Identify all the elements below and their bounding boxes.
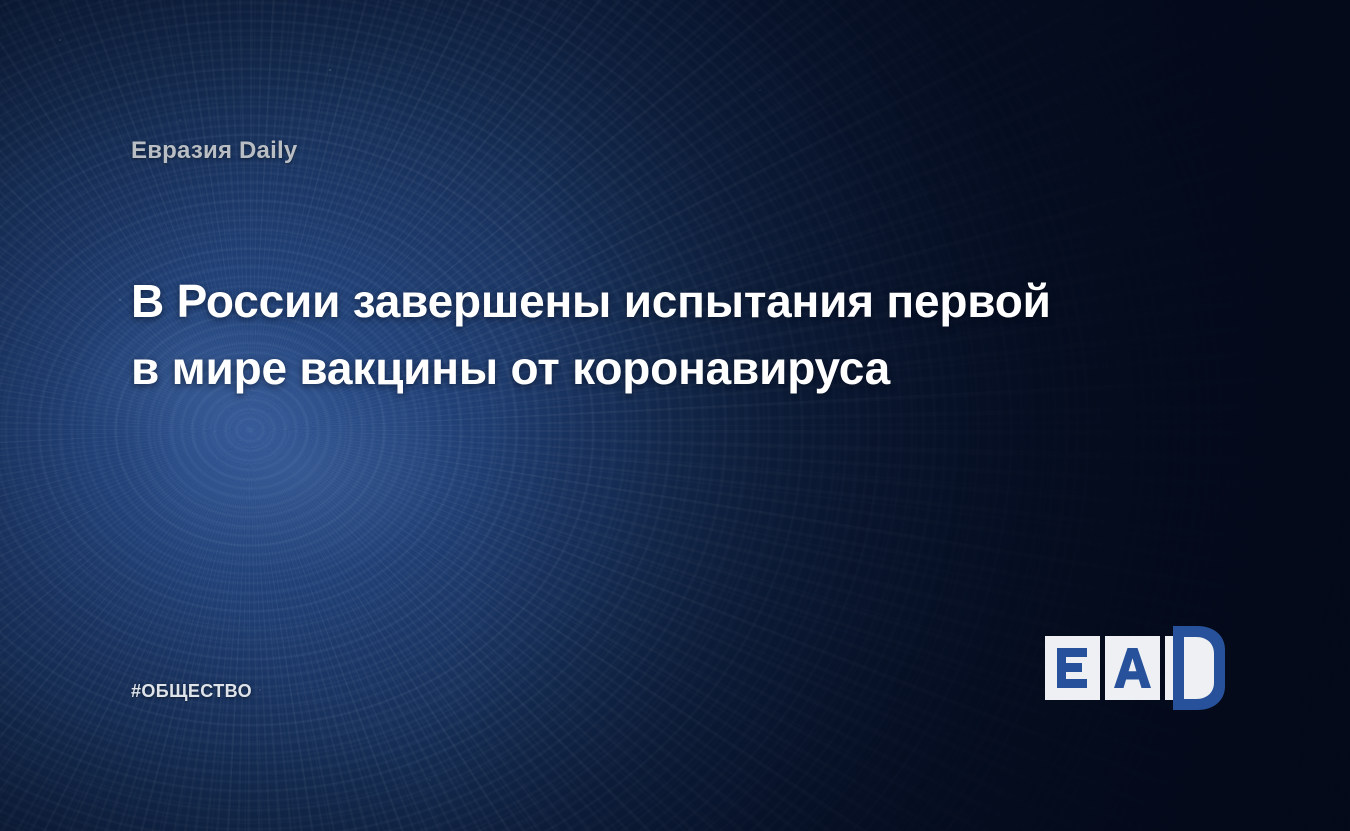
logo-tile-a xyxy=(1105,636,1160,700)
news-card: Евразия Daily В России завершены испытан… xyxy=(0,0,1350,831)
logo-tile-e xyxy=(1045,636,1100,700)
letter-a-icon xyxy=(1105,636,1160,700)
page-title: В России завершены испытания первой в ми… xyxy=(131,268,1236,402)
headline-line-2: в мире вакцины от коронавируса xyxy=(131,335,1236,402)
headline-line-1: В России завершены испытания первой xyxy=(131,268,1236,335)
card-content: Евразия Daily В России завершены испытан… xyxy=(0,0,1350,831)
letter-e-icon xyxy=(1045,636,1100,700)
category-tag[interactable]: #ОБЩЕСТВО xyxy=(131,681,252,702)
letter-d-icon xyxy=(1169,620,1229,716)
ead-logo xyxy=(1045,636,1221,700)
brand-wordmark: Евразия Daily xyxy=(131,137,297,165)
logo-tile-d xyxy=(1165,636,1220,700)
